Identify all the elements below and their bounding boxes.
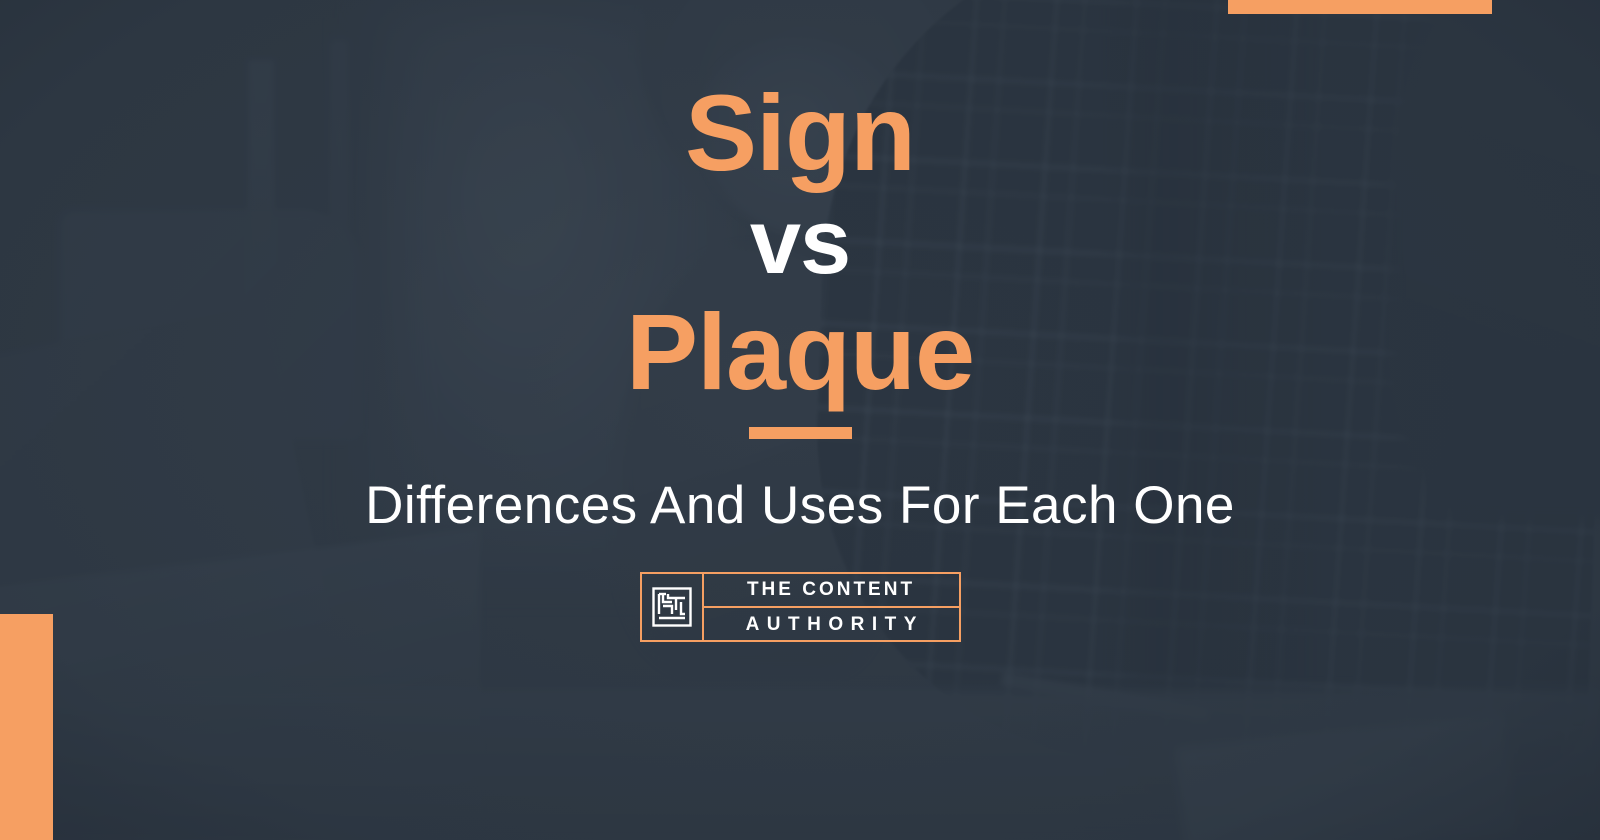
brand-logo-text: THE CONTENT AUTHORITY bbox=[704, 574, 959, 640]
hero-content: Sign vs Plaque Differences And Uses For … bbox=[0, 0, 1600, 840]
brand-logo-line-2: AUTHORITY bbox=[704, 608, 959, 641]
brand-logo[interactable]: THE CONTENT AUTHORITY bbox=[640, 572, 961, 642]
hero-banner: Sign vs Plaque Differences And Uses For … bbox=[0, 0, 1600, 840]
title-word-primary: Sign bbox=[685, 78, 915, 188]
title-separator-vs: vs bbox=[750, 188, 850, 297]
title-word-secondary: Plaque bbox=[626, 297, 974, 407]
brand-logo-line-1: THE CONTENT bbox=[704, 573, 959, 608]
hero-subtitle: Differences And Uses For Each One bbox=[365, 475, 1235, 536]
content-authority-monogram-icon bbox=[642, 574, 704, 640]
title-underline-rule bbox=[749, 427, 852, 439]
